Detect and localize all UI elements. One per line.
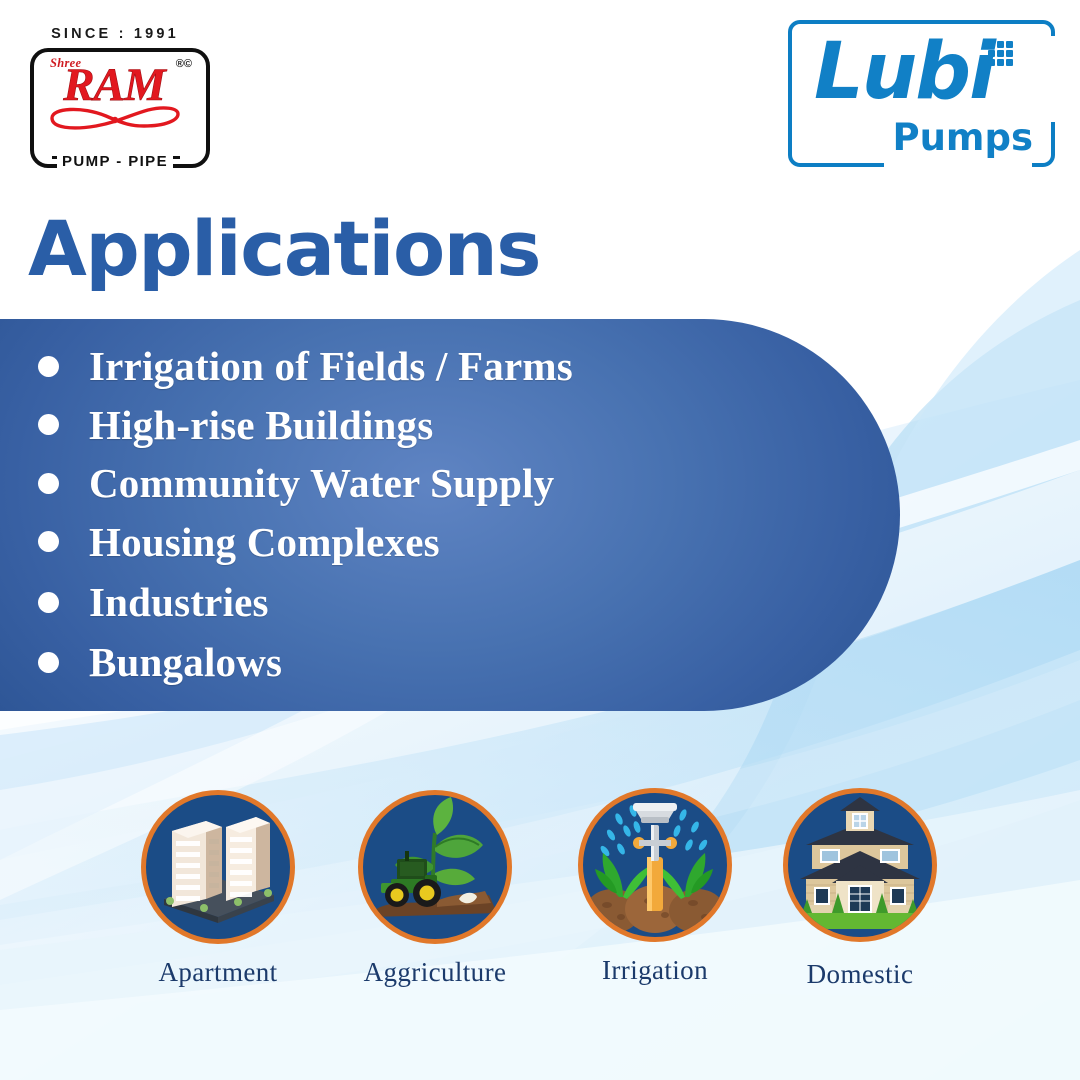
sprinkler-icon (583, 793, 727, 937)
house-icon (788, 793, 932, 937)
bullet-dot-icon (38, 473, 59, 494)
icon-caption: Apartment (128, 957, 308, 987)
ram-wordmark: RAM (44, 62, 184, 109)
icon-item-irrigation[interactable]: Irrigation (565, 788, 745, 985)
apartment-circle (141, 790, 295, 944)
shree-ram-logo: SINCE : 1991 Shree RAM ®© PUMP - PIPE (22, 26, 208, 163)
domestic-circle (783, 788, 937, 942)
bullet-dot-icon (38, 592, 59, 613)
list-item-label: Community Water Supply (89, 461, 554, 505)
icon-caption: Aggriculture (345, 957, 525, 987)
list-item-label: Housing Complexes (89, 520, 440, 564)
list-item-label: Industries (89, 580, 269, 624)
poster-canvas: SINCE : 1991 Shree RAM ®© PUMP - PIPE Lu… (0, 0, 1080, 1080)
tractor-plant-icon (363, 795, 507, 939)
lubi-wordmark: Lubi (814, 30, 994, 114)
aggriculture-circle (358, 790, 512, 944)
tagline: PUMP - PIPE (22, 153, 208, 170)
list-item: Housing Complexes (28, 513, 788, 572)
list-item-label: High-rise Buildings (89, 403, 433, 447)
irrigation-circle (578, 788, 732, 942)
bullet-dot-icon (38, 356, 59, 377)
application-icons: Apartment (0, 780, 1080, 1020)
icon-caption: Domestic (770, 959, 950, 989)
page-title: Applications (28, 207, 540, 291)
list-item: Irrigation of Fields / Farms (28, 337, 788, 396)
grid-dots-icon (987, 40, 1017, 68)
list-item: Community Water Supply (28, 454, 788, 513)
since-label: SINCE : 1991 (22, 26, 208, 42)
pumps-label: Pumps (892, 117, 1033, 159)
list-item: High-rise Buildings (28, 396, 788, 455)
frame-gap-bottom (884, 162, 1032, 172)
bullet-dot-icon (38, 414, 59, 435)
trademark-mark: ®© (176, 58, 192, 70)
list-item-label: Irrigation of Fields / Farms (89, 344, 573, 388)
lubi-pumps-logo: Lubi Pumps (788, 20, 1055, 167)
list-item-label: Bungalows (89, 640, 282, 684)
bullet-dot-icon (38, 652, 59, 673)
apartment-buildings-icon (146, 795, 290, 939)
icon-item-apartment[interactable]: Apartment (128, 790, 308, 987)
icon-item-aggriculture[interactable]: Aggriculture (345, 790, 525, 987)
frame-gap-right (1050, 36, 1060, 122)
list-item: Industries (28, 571, 788, 633)
icon-caption: Irrigation (565, 955, 745, 985)
applications-list: Irrigation of Fields / Farms High-rise B… (28, 337, 788, 692)
ribbon-swirl-icon (48, 104, 182, 130)
bullet-dot-icon (38, 531, 59, 552)
icon-item-domestic[interactable]: Domestic (770, 788, 950, 989)
list-item: Bungalows (28, 633, 788, 692)
